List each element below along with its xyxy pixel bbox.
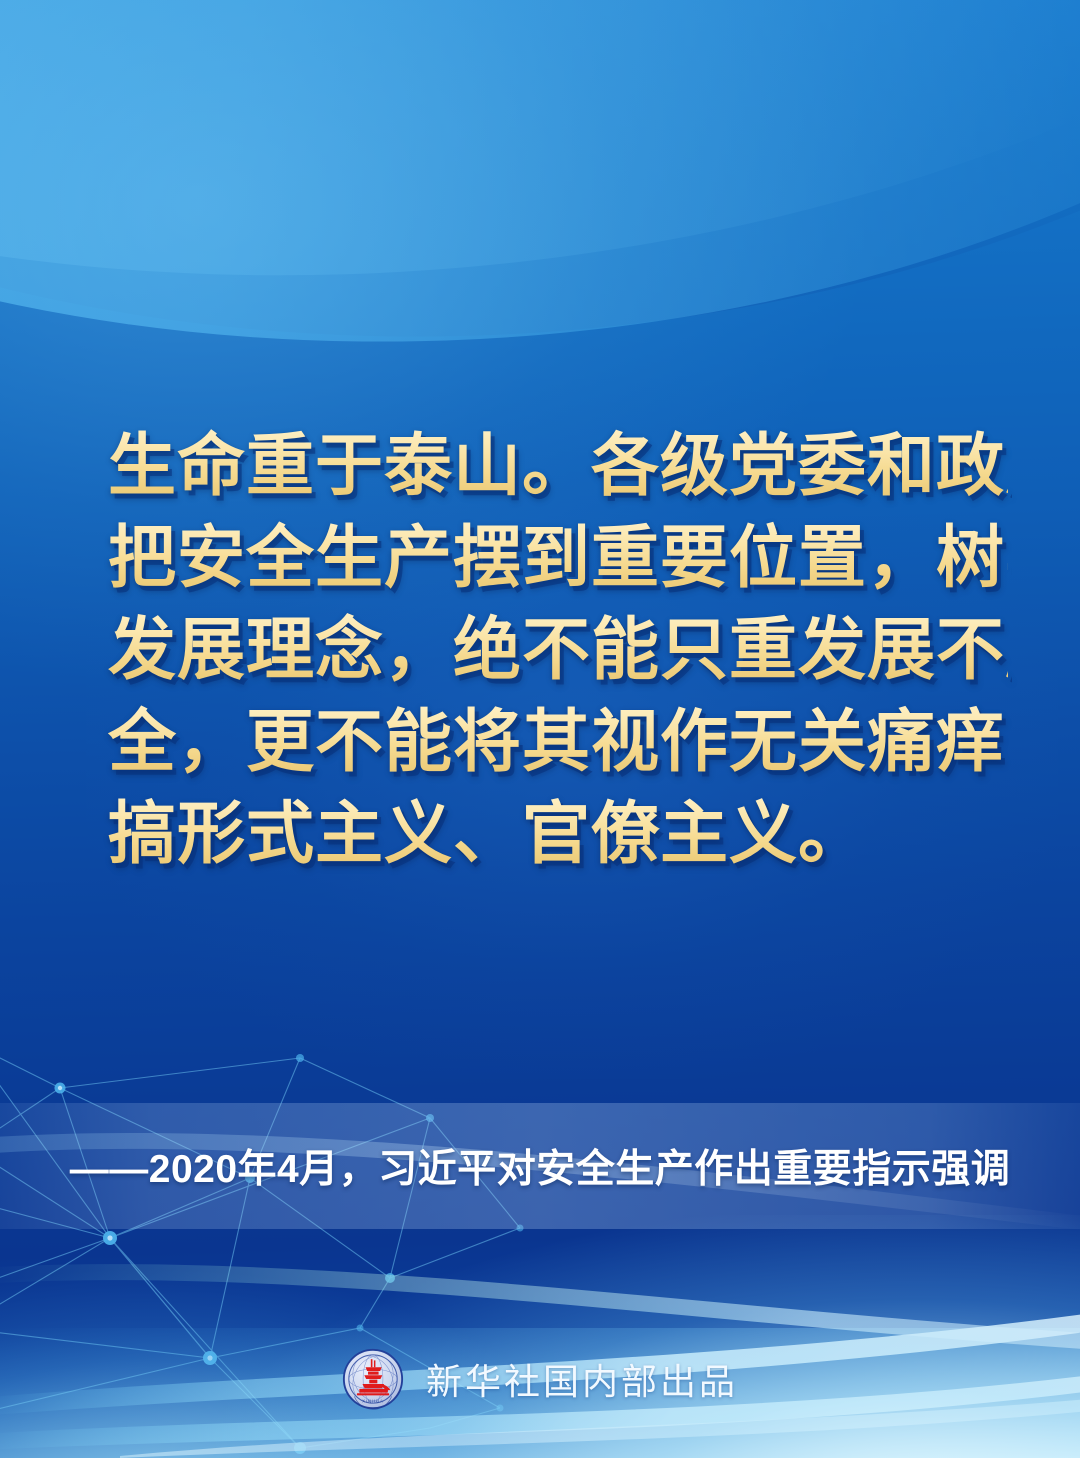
svg-text:XINHUA: XINHUA [362,1399,384,1404]
headline-line-1: 生命重于泰山。各级党委和政府务必 [108,420,1008,512]
headline-quote: 生命重于泰山。各级党委和政府务必 把安全生产摆到重要位置，树牢安全 发展理念，绝… [108,420,1008,880]
bottom-right-glow-shape [216,1215,1080,1458]
footer: XINHUA 新华社国内部出品 [0,1348,1080,1410]
headline-line-3: 发展理念，绝不能只重发展不顾安 [108,604,1008,696]
headline-line-5: 搞形式主义、官僚主义。 [108,788,1008,880]
poster-canvas: 生命重于泰山。各级党委和政府务必 把安全生产摆到重要位置，树牢安全 发展理念，绝… [0,0,1080,1458]
attribution-text: ——2020年4月，习近平对安全生产作出重要指示强调 [70,1138,1010,1194]
footer-text: 新华社国内部出品 [426,1353,738,1405]
light-swoosh-primary-shape [0,0,1080,402]
light-swoosh-secondary-shape [0,0,1080,380]
dark-curve-band-shape [0,0,1080,395]
attribution-row: ——2020年4月，习近平对安全生产作出重要指示强调 [0,1103,1080,1229]
headline-line-2: 把安全生产摆到重要位置，树牢安全 [108,512,1008,604]
headline-line-4: 全，更不能将其视作无关痛痒的事, [108,696,1008,788]
xinhua-emblem-icon: XINHUA [342,1348,404,1410]
